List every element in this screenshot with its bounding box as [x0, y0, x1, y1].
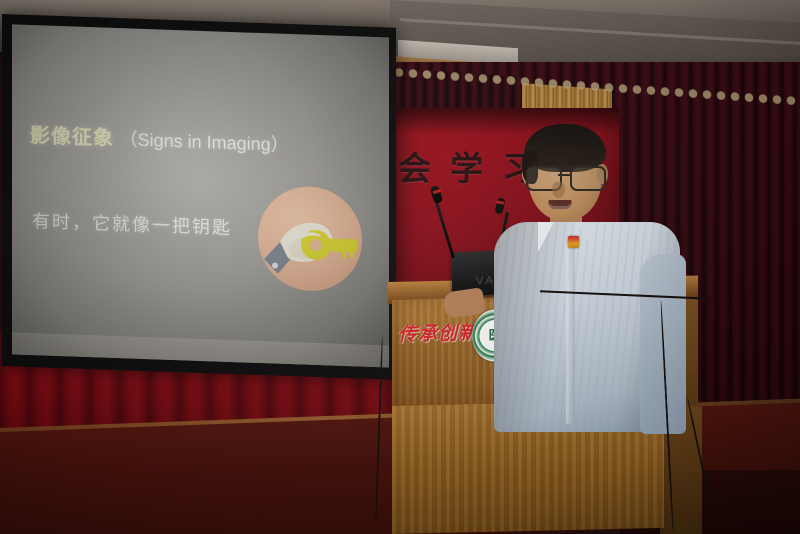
collar-left: [538, 222, 554, 252]
glasses-bridge: [558, 174, 572, 176]
eyebrow-left: [532, 162, 554, 165]
screen-bottom-band: [12, 332, 389, 367]
shirt-placket: [566, 244, 575, 424]
party-badge-icon: [568, 236, 579, 248]
hand-holding-key-icon: [258, 185, 362, 293]
projection-screen-frame: 影像征象 （Signs in Imaging） 有时，它就像一把钥匙: [2, 14, 396, 380]
eyebrow-right: [568, 161, 590, 164]
projection-screen-surface: 影像征象 （Signs in Imaging） 有时，它就像一把钥匙: [12, 24, 389, 367]
slide-title-chinese: 影像征象: [30, 125, 114, 150]
slide-subtitle: 有时，它就像一把钥匙: [32, 207, 232, 240]
mouth: [548, 200, 572, 209]
glasses-icon: [524, 166, 606, 188]
slide-title-english: （Signs in Imaging）: [120, 129, 289, 155]
key-illustration-svg: [258, 185, 362, 293]
glasses-lens-right: [570, 166, 606, 191]
slide-title: 影像征象 （Signs in Imaging）: [30, 119, 289, 157]
photo-scene: 会 学 习 班 影像征象 （Signs in Imaging） 有时，它就像一把…: [0, 0, 800, 534]
podium-calligraphy-left: 传承创新: [398, 318, 478, 347]
speaker-person: [492, 104, 682, 334]
collar-right: [578, 222, 594, 252]
nose: [552, 182, 565, 198]
